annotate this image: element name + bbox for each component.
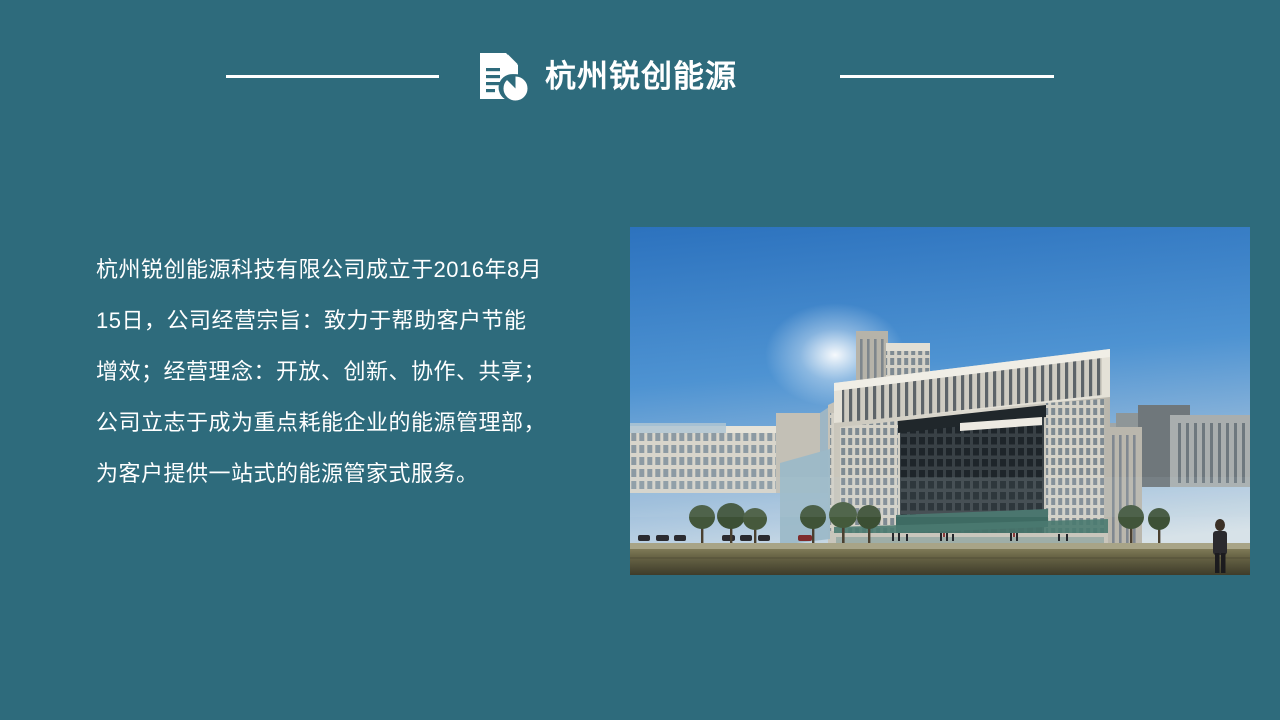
header-divider-right [840,75,1054,78]
page-title: 杭州锐创能源 [545,61,737,92]
slide-root: 杭州锐创能源 杭州锐创能源科技有限公司成立于2016年8月 15日，公司经营宗旨… [0,0,1280,720]
description-line: 公司立志于成为重点耗能企业的能源管理部， [96,397,596,448]
header-divider-left [226,75,439,78]
brand-lockup: 杭州锐创能源 [474,48,737,104]
document-chart-icon [474,48,530,104]
slide-header: 杭州锐创能源 [0,48,1280,104]
building-photo [630,227,1250,575]
description-line: 为客户提供一站式的能源管家式服务。 [96,448,596,499]
description-line: 15日，公司经营宗旨：致力于帮助客户节能 [96,295,596,346]
description-line: 增效；经营理念：开放、创新、协作、共享； [96,346,596,397]
description-line: 杭州锐创能源科技有限公司成立于2016年8月 [96,244,596,295]
company-description: 杭州锐创能源科技有限公司成立于2016年8月 15日，公司经营宗旨：致力于帮助客… [96,244,596,499]
